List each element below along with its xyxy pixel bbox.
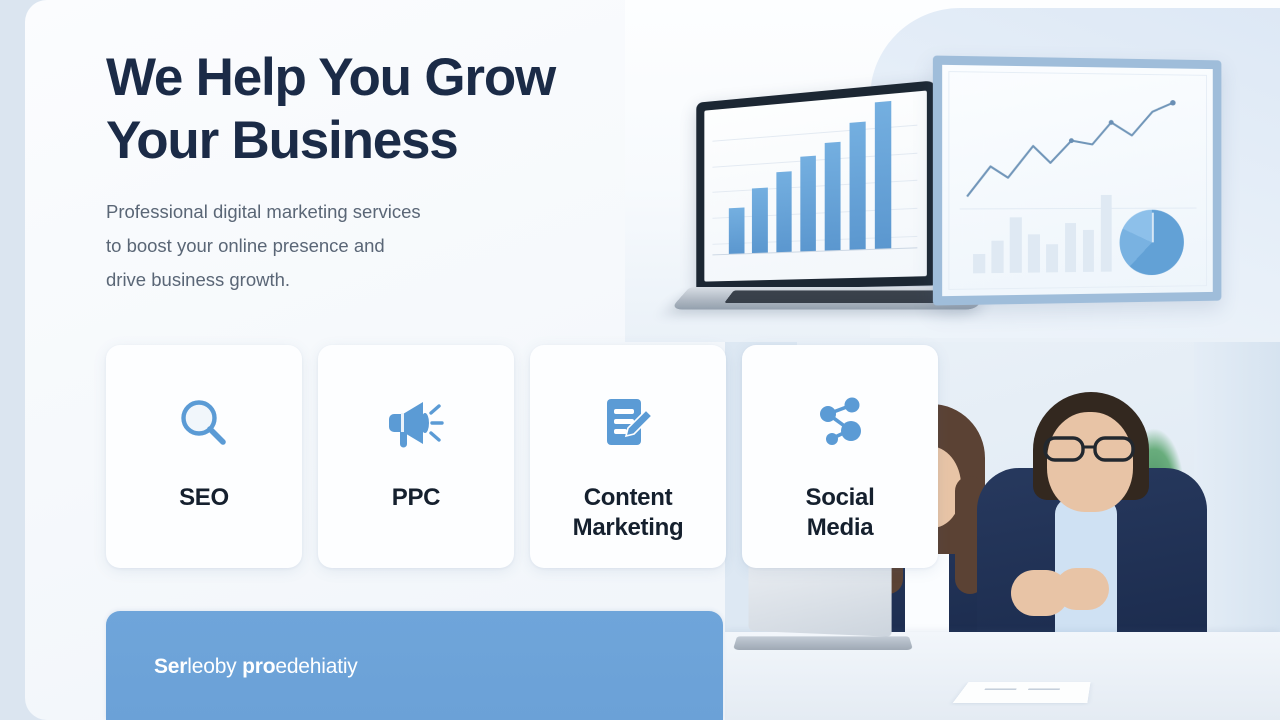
magnifier-icon — [172, 391, 236, 455]
cta-banner[interactable]: Serleoby proedehiatiy — [106, 611, 723, 720]
laptop-keyboard — [724, 290, 940, 303]
cta-text-mid-1: leoby — [187, 655, 242, 678]
page-title: We Help You Grow Your Business — [106, 46, 626, 172]
service-cards: SEO PPC — [106, 345, 938, 568]
glasses-icon — [1043, 434, 1139, 464]
cta-text-mid-2: edehiatiy — [275, 655, 357, 678]
page-root: We Help You Grow Your Business Professio… — [0, 0, 1280, 720]
paper-document — [953, 682, 1091, 703]
cta-banner-text: Serleoby proedehiatiy — [154, 655, 358, 679]
service-card-label: Social Media — [806, 483, 875, 544]
laptop-screen-bar-chart — [704, 91, 927, 282]
service-card-label-line-2: Marketing — [573, 513, 684, 543]
service-card-social-media[interactable]: Social Media — [742, 345, 938, 568]
share-network-icon — [808, 391, 872, 455]
megaphone-icon — [384, 391, 448, 455]
headline-line-2: Your Business — [106, 109, 626, 172]
service-card-ppc[interactable]: PPC — [318, 345, 514, 568]
page-subtitle: Professional digital marketing services … — [106, 195, 506, 298]
service-card-content-marketing[interactable]: Content Marketing — [530, 345, 726, 568]
service-card-label-line-2: Media — [806, 513, 875, 543]
hero-section-card: We Help You Grow Your Business Professio… — [25, 0, 1280, 720]
service-card-label-line-1: Social — [806, 483, 875, 513]
person-right — [977, 362, 1207, 650]
service-card-label: Content Marketing — [573, 483, 684, 544]
headline-line-1: We Help You Grow — [106, 46, 626, 109]
subtitle-line-3: drive business growth. — [106, 263, 506, 297]
subtitle-line-1: Professional digital marketing services — [106, 195, 506, 229]
monitor-screen — [948, 71, 1207, 290]
document-pen-icon — [596, 391, 660, 455]
subtitle-line-2: to boost your online presence and — [106, 229, 506, 263]
laptop-lid — [696, 80, 936, 290]
service-card-label: PPC — [392, 483, 440, 513]
cta-text-bold-2: pro — [242, 655, 275, 678]
service-card-label: SEO — [179, 483, 229, 513]
service-card-label-line-1: Content — [573, 483, 684, 513]
service-card-seo[interactable]: SEO — [106, 345, 302, 568]
monitor-graphic — [933, 56, 1222, 306]
cta-text-bold-1: Ser — [154, 655, 187, 678]
illustration-laptop-charts — [625, 0, 1280, 342]
